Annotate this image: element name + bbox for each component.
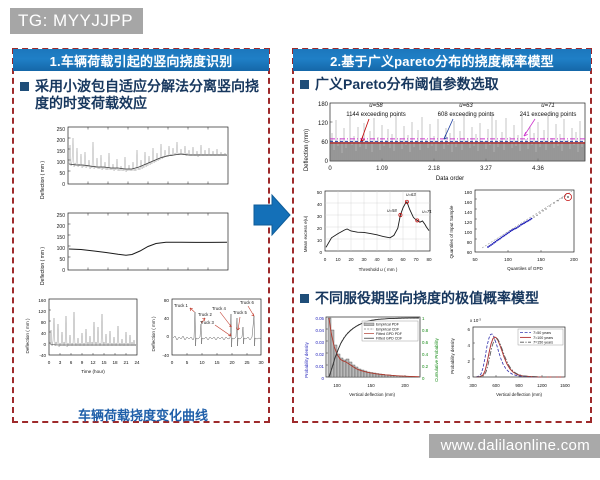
chart-mean-excess: Mean excess e(u) 50 40 30 20 10 0 0 10 2…	[300, 186, 445, 278]
svg-text:600: 600	[492, 383, 500, 388]
svg-text:30: 30	[317, 214, 323, 219]
svg-text:12: 12	[90, 360, 96, 365]
right-bullet-2-label: 不同服役期竖向挠度的极值概率模型	[315, 290, 539, 307]
svg-text:Deflection (mm): Deflection (mm)	[304, 129, 310, 171]
svg-text:0: 0	[319, 250, 322, 255]
svg-text:Quantiles of GPD: Quantiles of GPD	[507, 266, 543, 271]
svg-text:150: 150	[537, 257, 545, 262]
chart-vehicle-load-deflection: Deflection ( mm ) 160 120 80 40 0 -40 0 …	[22, 294, 152, 380]
svg-text:Fitted GPD PDF: Fitted GPD PDF	[376, 332, 403, 336]
svg-text:20: 20	[229, 360, 235, 365]
svg-text:1.09: 1.09	[376, 166, 388, 172]
svg-text:Threshold u ( mm ): Threshold u ( mm )	[359, 267, 398, 272]
square-bullet-icon	[300, 80, 309, 89]
svg-text:80: 80	[467, 240, 473, 245]
svg-text:50: 50	[59, 257, 65, 263]
svg-text:250: 250	[57, 213, 66, 219]
svg-text:40: 40	[41, 331, 47, 336]
svg-text:Truck 6: Truck 6	[240, 300, 254, 305]
svg-text:15: 15	[214, 360, 220, 365]
svg-text:u=58: u=58	[369, 103, 383, 109]
svg-text:Quantiles of Input Sample: Quantiles of Input Sample	[449, 205, 454, 258]
svg-text:0: 0	[322, 376, 325, 381]
svg-text:0.03: 0.03	[315, 340, 324, 345]
right-bullet-2: 不同服役期竖向挠度的极值概率模型	[300, 290, 590, 307]
svg-text:Mean excess e(u): Mean excess e(u)	[303, 215, 308, 252]
right-bullet-1-label: 广义Pareto分布阈值参数选取	[315, 76, 499, 93]
svg-text:21: 21	[123, 360, 129, 365]
chart-threshold-exceedance: Deflection (mm) 180 120 60 0 0 1.09 2.18…	[300, 98, 590, 184]
svg-text:T=50 years: T=50 years	[533, 331, 551, 335]
svg-text:1144 exceeding points: 1144 exceeding points	[346, 112, 406, 118]
svg-text:30: 30	[361, 257, 367, 262]
svg-text:200: 200	[570, 257, 578, 262]
svg-text:40: 40	[374, 257, 380, 262]
svg-text:u=71: u=71	[422, 209, 431, 214]
svg-text:140: 140	[464, 210, 472, 215]
svg-text:0: 0	[325, 159, 329, 165]
svg-text:Truck 4: Truck 4	[212, 306, 226, 311]
svg-text:T=100 years: T=100 years	[533, 336, 553, 340]
svg-text:0: 0	[43, 342, 46, 347]
svg-text:Truck 5: Truck 5	[233, 310, 247, 315]
svg-text:80: 80	[164, 298, 170, 303]
svg-text:Deflection ( mm ): Deflection ( mm )	[40, 161, 46, 199]
svg-text:200: 200	[57, 224, 66, 230]
svg-text:Data order: Data order	[436, 176, 464, 182]
svg-text:9: 9	[81, 360, 84, 365]
svg-text:120: 120	[464, 220, 472, 225]
svg-text:50: 50	[387, 257, 393, 262]
svg-text:200: 200	[401, 383, 409, 388]
svg-text:100: 100	[57, 160, 66, 166]
watermark-tag-top: TG: MYYJJPP	[10, 8, 143, 34]
svg-text:0: 0	[166, 334, 169, 339]
svg-text:0: 0	[48, 360, 51, 365]
chart-qq-plot: Quantiles of Input Sample 180 160 140 12…	[446, 186, 590, 278]
svg-text:0: 0	[468, 375, 471, 380]
svg-text:150: 150	[57, 235, 66, 241]
svg-text:10: 10	[335, 257, 341, 262]
svg-text:0.8: 0.8	[422, 328, 429, 333]
svg-text:180: 180	[318, 102, 329, 108]
svg-text:100: 100	[333, 383, 341, 388]
panel-right: 2.基于广义pareto分布的挠度概率模型 广义Pareto分布阈值参数选取 D…	[292, 48, 592, 423]
svg-text:0.05: 0.05	[315, 316, 324, 321]
svg-text:20: 20	[348, 257, 354, 262]
chart-deflection-daily: Deflection ( mm ) 250 200 150 100 50 0	[36, 122, 236, 204]
svg-text:3: 3	[59, 360, 62, 365]
svg-text:Fitted GPD CDF: Fitted GPD CDF	[376, 337, 403, 341]
svg-text:18: 18	[112, 360, 118, 365]
svg-text:50: 50	[317, 190, 323, 195]
svg-text:u=71: u=71	[541, 103, 555, 109]
svg-text:0.4: 0.4	[422, 352, 429, 357]
svg-text:150: 150	[367, 383, 375, 388]
svg-text:0: 0	[171, 360, 174, 365]
svg-text:80: 80	[426, 257, 432, 262]
svg-text:6: 6	[70, 360, 73, 365]
caption-vehicle-load-deflection: 车辆荷载挠度变化曲线	[14, 405, 272, 424]
svg-text:20: 20	[317, 226, 323, 231]
chart-truck-events: Deflection ( mm ) 80 40 0 -40 0 5 10 15 …	[148, 294, 268, 380]
svg-text:70: 70	[413, 257, 419, 262]
svg-text:60: 60	[400, 257, 406, 262]
chart-pdf-cdf: Probability density Cumulative Probabili…	[300, 312, 445, 412]
svg-text:180: 180	[464, 190, 472, 195]
panel-right-title: 2.基于广义pareto分布的挠度概率模型	[293, 49, 591, 71]
svg-text:0.02: 0.02	[315, 352, 324, 357]
svg-text:60: 60	[467, 250, 473, 255]
svg-text:0.2: 0.2	[422, 364, 429, 369]
svg-text:120: 120	[38, 309, 46, 314]
svg-text:Probability density: Probability density	[304, 341, 309, 377]
svg-text:40: 40	[164, 316, 170, 321]
svg-text:4: 4	[468, 343, 471, 348]
chart-temperature-deflection: Deflection ( mm ) 250 200 150 100 50 0	[36, 208, 236, 290]
svg-text:u=63: u=63	[406, 192, 416, 197]
svg-text:60: 60	[321, 140, 328, 146]
right-bullet-1: 广义Pareto分布阈值参数选取	[300, 76, 590, 93]
svg-text:160: 160	[38, 298, 46, 303]
svg-text:50: 50	[59, 171, 65, 177]
watermark-url-bottom: www.dalilaonline.com	[429, 434, 600, 458]
svg-text:2.18: 2.18	[428, 166, 440, 172]
svg-text:608 exceeding points: 608 exceeding points	[438, 112, 495, 118]
svg-text:1: 1	[422, 316, 425, 321]
svg-text:100: 100	[504, 257, 512, 262]
svg-text:24: 24	[134, 360, 140, 365]
svg-text:Probability density: Probability density	[450, 337, 455, 373]
svg-text:25: 25	[244, 360, 250, 365]
svg-text:40: 40	[317, 202, 323, 207]
svg-text:0: 0	[62, 268, 65, 274]
svg-text:0: 0	[324, 257, 327, 262]
svg-text:10: 10	[199, 360, 205, 365]
svg-text:1200: 1200	[537, 383, 547, 388]
svg-text:Empirical PDF: Empirical PDF	[376, 323, 400, 327]
svg-text:80: 80	[41, 320, 47, 325]
svg-text:Cumulative Probability: Cumulative Probability	[434, 337, 439, 381]
svg-text:0: 0	[422, 376, 425, 381]
svg-text:2: 2	[468, 359, 471, 364]
svg-text:Truck 3: Truck 3	[200, 320, 214, 325]
svg-text:Vertical deflection (mm): Vertical deflection (mm)	[349, 392, 395, 397]
svg-text:0.04: 0.04	[315, 328, 324, 333]
svg-text:150: 150	[57, 149, 66, 155]
slide-canvas: TG: MYYJJPP 1.车辆荷载引起的竖向挠度识别 采用小波包自适应分解法分…	[0, 0, 600, 480]
svg-text:5: 5	[186, 360, 189, 365]
svg-text:15: 15	[101, 360, 107, 365]
svg-text:0.01: 0.01	[315, 364, 324, 369]
svg-text:241 exceeding points: 241 exceeding points	[520, 112, 577, 118]
svg-text:1500: 1500	[560, 383, 570, 388]
svg-text:u=58: u=58	[387, 208, 397, 213]
panel-left: 1.车辆荷载引起的竖向挠度识别 采用小波包自适应分解法分离竖向挠度的时变荷载效应…	[12, 48, 270, 423]
svg-text:200: 200	[57, 138, 66, 144]
svg-text:3.27: 3.27	[480, 166, 492, 172]
svg-text:Time (hour): Time (hour)	[81, 369, 105, 374]
svg-text:160: 160	[464, 200, 472, 205]
svg-text:x 10-3: x 10-3	[470, 317, 481, 323]
svg-text:300: 300	[469, 383, 477, 388]
left-bullet: 采用小波包自适应分解法分离竖向挠度的时变荷载效应	[20, 78, 264, 112]
right-arrow-icon	[250, 192, 294, 238]
svg-text:Truck 2: Truck 2	[198, 312, 212, 317]
svg-text:50: 50	[472, 257, 478, 262]
svg-text:Truck 1: Truck 1	[174, 303, 188, 308]
svg-text:10: 10	[317, 238, 323, 243]
svg-text:T=150 years: T=150 years	[533, 341, 553, 345]
svg-text:0.6: 0.6	[422, 340, 429, 345]
svg-text:0: 0	[62, 182, 65, 188]
svg-text:900: 900	[515, 383, 523, 388]
svg-text:-40: -40	[39, 353, 46, 358]
svg-text:6: 6	[468, 327, 471, 332]
svg-text:100: 100	[464, 230, 472, 235]
svg-text:100: 100	[57, 246, 66, 252]
svg-text:-40: -40	[162, 353, 169, 358]
chart-extreme-value-pdf: Probability density x 10-3 6 4 2 0 300 6…	[446, 312, 590, 412]
svg-text:30: 30	[258, 360, 264, 365]
svg-text:Vertical deflection (mm): Vertical deflection (mm)	[496, 392, 542, 397]
svg-text:Deflection ( mm ): Deflection ( mm )	[151, 316, 156, 351]
svg-text:Deflection ( mm ): Deflection ( mm )	[25, 318, 30, 353]
square-bullet-icon	[20, 82, 29, 91]
svg-text:Deflection ( mm ): Deflection ( mm )	[40, 247, 46, 285]
svg-text:250: 250	[57, 127, 66, 133]
svg-text:Empirical CDF: Empirical CDF	[376, 327, 400, 331]
svg-text:120: 120	[318, 121, 329, 127]
svg-text:u=63: u=63	[459, 103, 473, 109]
svg-text:4.36: 4.36	[532, 166, 544, 172]
square-bullet-icon	[300, 294, 309, 303]
panel-left-title: 1.车辆荷载引起的竖向挠度识别	[13, 49, 269, 71]
left-bullet-label: 采用小波包自适应分解法分离竖向挠度的时变荷载效应	[35, 78, 264, 112]
svg-text:0: 0	[328, 166, 332, 172]
